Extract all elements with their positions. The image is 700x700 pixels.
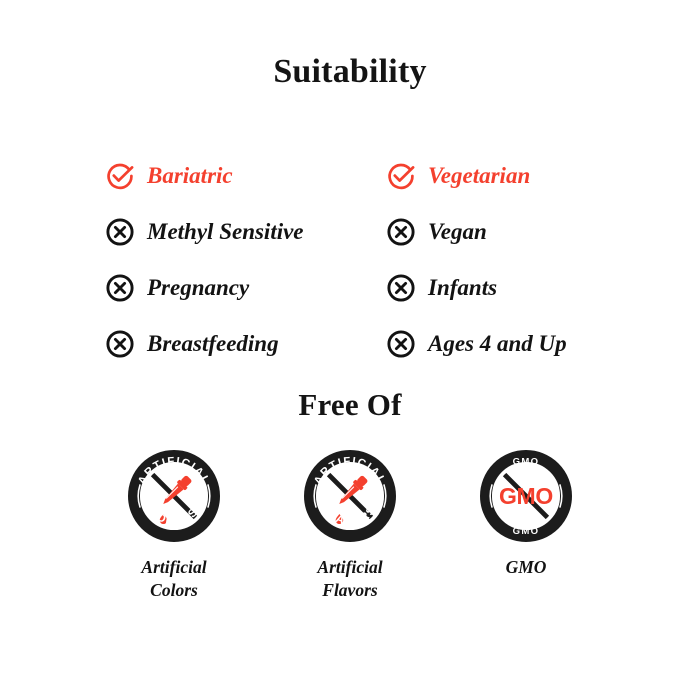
x-circle-icon: [386, 273, 416, 303]
x-circle-icon: [105, 329, 135, 359]
suitability-item-label: Pregnancy: [147, 275, 249, 301]
suitability-item-label: Methyl Sensitive: [147, 219, 304, 245]
suitability-item-label: Vegetarian: [428, 163, 530, 189]
no-gmo-badge: GMO GMO GMO: [480, 450, 572, 542]
check-circle-icon: [105, 161, 135, 191]
caption-line-2: Flavors: [322, 580, 377, 600]
suitability-item-breastfeeding: Breastfeeding: [105, 316, 386, 372]
caption-line-1: GMO: [506, 557, 547, 577]
suitability-item-ages-4-and-up: Ages 4 and Up: [386, 316, 667, 372]
x-circle-icon: [386, 329, 416, 359]
suitability-item-vegan: Vegan: [386, 204, 667, 260]
no-artificial-flavors-badge: ARTIFICIAL FLAVORS: [304, 450, 396, 542]
suitability-item-label: Breastfeeding: [147, 331, 279, 357]
badge-ring-top-text: GMO: [513, 457, 540, 468]
free-of-section-title: Free Of: [0, 386, 700, 424]
caption-line-2: Colors: [150, 580, 198, 600]
suitability-item-label: Ages 4 and Up: [428, 331, 567, 357]
suitability-item-vegetarian: Vegetarian: [386, 148, 667, 204]
x-circle-icon: [386, 217, 416, 247]
suitability-item-pregnancy: Pregnancy: [105, 260, 386, 316]
suitability-section-title: Suitability: [0, 52, 700, 92]
no-artificial-colors-badge: ARTIFICIAL COLORS: [128, 450, 220, 542]
free-of-badge-caption: Artificial Colors: [141, 556, 206, 602]
free-of-badge-artificial-flavors: ARTIFICIAL FLAVORS Artificial Flavors: [295, 450, 405, 602]
x-circle-icon: [105, 217, 135, 247]
x-circle-icon: [105, 273, 135, 303]
free-of-badge-caption: GMO: [506, 556, 547, 579]
free-of-badge-list: ARTIFICIAL COLORS Artificial Colors: [0, 450, 700, 602]
suitability-item-label: Infants: [428, 275, 497, 301]
check-circle-icon: [386, 161, 416, 191]
badge-center-text: GMO: [499, 483, 553, 509]
caption-line-1: Artificial: [317, 557, 382, 577]
suitability-item-label: Vegan: [428, 219, 487, 245]
caption-line-1: Artificial: [141, 557, 206, 577]
suitability-list: Bariatric Vegetarian Methyl Sensitive: [105, 148, 605, 372]
suitability-item-infants: Infants: [386, 260, 667, 316]
suitability-item-methyl-sensitive: Methyl Sensitive: [105, 204, 386, 260]
suitability-item-bariatric: Bariatric: [105, 148, 386, 204]
free-of-badge-gmo: GMO GMO GMO GMO: [471, 450, 581, 602]
free-of-badge-caption: Artificial Flavors: [317, 556, 382, 602]
suitability-item-label: Bariatric: [147, 163, 233, 189]
badge-ring-bottom-text: GMO: [513, 526, 540, 537]
free-of-badge-artificial-colors: ARTIFICIAL COLORS Artificial Colors: [119, 450, 229, 602]
